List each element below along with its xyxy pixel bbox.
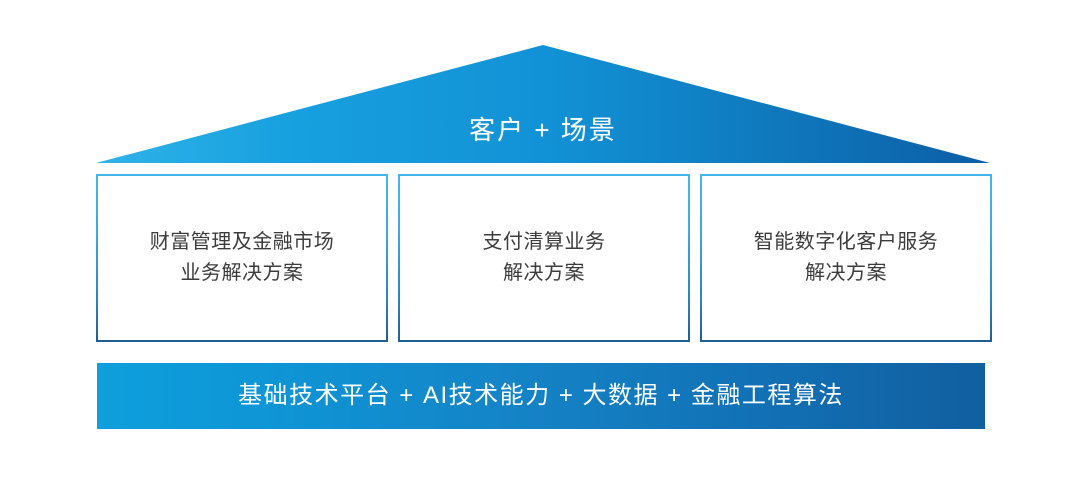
pillar-wealth-management[interactable]: 财富管理及金融市场 业务解决方案 bbox=[96, 174, 388, 342]
pillar-row: 财富管理及金融市场 业务解决方案 支付清算业务 解决方案 智能数字化客户服务 解… bbox=[96, 174, 992, 342]
foundation-bar: 基础技术平台 + AI技术能力 + 大数据 + 金融工程算法 bbox=[97, 363, 985, 429]
architecture-diagram: 客户 + 场景 财富管理及金融市场 业务解决方案 支付清算业务 解决方案 智能数… bbox=[0, 0, 1080, 489]
pillar-line-1: 智能数字化客户服务 bbox=[754, 227, 939, 258]
pillar-line-1: 财富管理及金融市场 bbox=[150, 227, 335, 258]
roof-triangle-icon bbox=[96, 45, 990, 165]
pillar-text: 智能数字化客户服务 解决方案 bbox=[744, 227, 949, 289]
pillar-line-2: 解决方案 bbox=[483, 258, 606, 289]
pillar-line-2: 解决方案 bbox=[754, 258, 939, 289]
pillar-line-2: 业务解决方案 bbox=[150, 258, 335, 289]
pillar-line-1: 支付清算业务 bbox=[483, 227, 606, 258]
pillar-payment-clearing[interactable]: 支付清算业务 解决方案 bbox=[398, 174, 690, 342]
pillar-text: 财富管理及金融市场 业务解决方案 bbox=[140, 227, 345, 289]
foundation-label: 基础技术平台 + AI技术能力 + 大数据 + 金融工程算法 bbox=[238, 384, 844, 408]
roof-shape: 客户 + 场景 bbox=[96, 45, 990, 165]
pillar-text: 支付清算业务 解决方案 bbox=[473, 227, 616, 289]
pillar-intelligent-customer-service[interactable]: 智能数字化客户服务 解决方案 bbox=[700, 174, 992, 342]
